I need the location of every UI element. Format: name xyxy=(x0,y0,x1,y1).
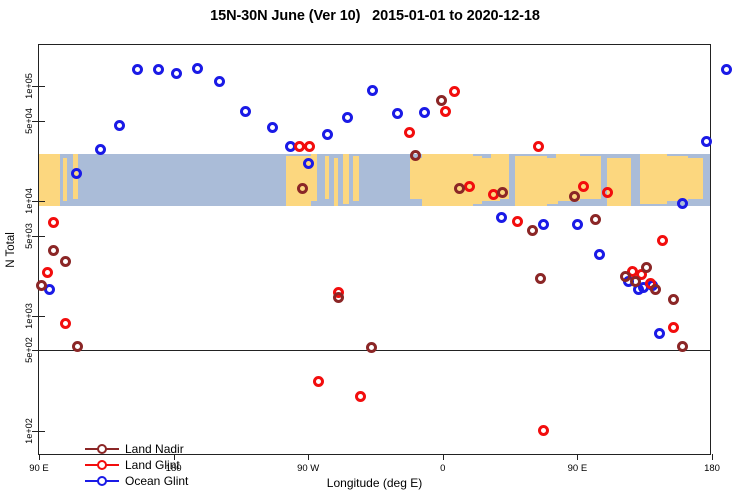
x-tick-mark xyxy=(712,454,713,460)
y-tick-label: 1e+04 xyxy=(24,188,34,214)
data-point-ocean xyxy=(496,212,507,223)
x-tick-mark xyxy=(308,454,309,460)
y-tick-mark-inner xyxy=(39,236,45,237)
data-point-nadir xyxy=(436,95,447,106)
data-point-ocean xyxy=(95,144,106,155)
data-point-ocean xyxy=(594,249,605,260)
legend-label: Land Nadir xyxy=(125,442,184,456)
x-tick-mark xyxy=(39,454,40,460)
data-point-glint xyxy=(512,216,523,227)
data-point-nadir xyxy=(48,245,59,256)
data-point-glint xyxy=(533,141,544,152)
y-tick-mark-inner xyxy=(39,350,45,351)
data-point-ocean xyxy=(153,64,164,75)
data-point-ocean xyxy=(114,120,125,131)
legend-item-glint[interactable]: Land Glint xyxy=(85,457,188,473)
data-point-nadir xyxy=(569,191,580,202)
data-point-ocean xyxy=(572,219,583,230)
legend-marker-glint xyxy=(85,459,119,472)
data-point-ocean xyxy=(367,85,378,96)
data-point-glint xyxy=(404,127,415,138)
legend-marker-nadir xyxy=(85,443,119,456)
data-point-glint xyxy=(440,106,451,117)
data-point-ocean xyxy=(392,108,403,119)
y-tick-mark-inner xyxy=(39,86,45,87)
x-tick-label: 0 xyxy=(440,463,445,474)
data-point-glint xyxy=(355,391,366,402)
data-point-nadir xyxy=(650,284,661,295)
data-point-glint xyxy=(538,425,549,436)
data-point-nadir xyxy=(60,256,71,267)
y-tick-mark-inner xyxy=(39,316,45,317)
data-point-ocean xyxy=(214,76,225,87)
data-point-glint xyxy=(449,86,460,97)
y-tick-label: 1e+02 xyxy=(24,418,34,444)
y-tick-mark-inner xyxy=(39,431,45,432)
data-point-ocean xyxy=(267,122,278,133)
data-point-nadir xyxy=(454,183,465,194)
y-axis-label-text: N Total xyxy=(5,232,17,268)
plot-page: 15N-30N June (Ver 10) 2015-01-01 to 2020… xyxy=(0,0,750,500)
page-title: 15N-30N June (Ver 10) 2015-01-01 to 2020… xyxy=(0,8,750,24)
data-point-nadir xyxy=(497,187,508,198)
plot-area: 1e+055e+041e+045e+031e+035e+021e+0290 E1… xyxy=(38,44,711,455)
y-tick-mark-inner xyxy=(39,121,45,122)
data-point-nadir xyxy=(641,262,652,273)
y-tick-label: 5e+04 xyxy=(24,108,34,134)
data-point-ocean xyxy=(721,64,732,75)
x-tick-mark xyxy=(577,454,578,460)
data-point-ocean xyxy=(132,64,143,75)
legend-label: Land Glint xyxy=(125,458,180,472)
data-point-glint xyxy=(464,181,475,192)
data-point-glint xyxy=(602,187,613,198)
data-point-glint xyxy=(60,318,71,329)
y-tick-label: 5e+02 xyxy=(24,337,34,363)
x-tick-label: 90 E xyxy=(29,463,49,474)
data-point-nadir xyxy=(620,271,631,282)
data-point-nadir xyxy=(410,150,421,161)
y-tick-mark-inner xyxy=(39,201,45,202)
data-point-nadir xyxy=(590,214,601,225)
data-point-ocean xyxy=(303,158,314,169)
data-point-nadir xyxy=(668,294,679,305)
x-tick-label: 90 W xyxy=(297,463,319,474)
data-point-ocean xyxy=(701,136,712,147)
data-point-ocean xyxy=(322,129,333,140)
data-point-ocean xyxy=(419,107,430,118)
data-point-nadir xyxy=(297,183,308,194)
y-tick-label: 1e+03 xyxy=(24,303,34,329)
legend-item-nadir[interactable]: Land Nadir xyxy=(85,441,188,457)
x-tick-label: 180 xyxy=(704,463,720,474)
data-point-ocean xyxy=(342,112,353,123)
data-point-glint xyxy=(313,376,324,387)
data-point-glint xyxy=(42,267,53,278)
data-point-ocean xyxy=(192,63,203,74)
data-point-glint xyxy=(668,322,679,333)
data-point-glint xyxy=(304,141,315,152)
data-point-nadir xyxy=(72,341,83,352)
y-tick-label: 5e+03 xyxy=(24,223,34,249)
x-tick-label: 90 E xyxy=(568,463,588,474)
data-point-ocean xyxy=(538,219,549,230)
data-point-glint xyxy=(48,217,59,228)
data-point-nadir xyxy=(677,341,688,352)
data-point-nadir xyxy=(527,225,538,236)
y-tick-label: 1e+05 xyxy=(24,74,34,100)
data-point-nadir xyxy=(630,276,641,287)
data-point-nadir xyxy=(535,273,546,284)
data-point-ocean xyxy=(71,168,82,179)
scatter-data-layer xyxy=(39,45,710,454)
data-point-glint xyxy=(294,141,305,152)
data-point-ocean xyxy=(677,198,688,209)
data-point-nadir xyxy=(333,292,344,303)
data-point-ocean xyxy=(240,106,251,117)
data-point-glint xyxy=(578,181,589,192)
y-axis-label: N Total xyxy=(4,44,18,455)
data-point-ocean xyxy=(654,328,665,339)
x-axis-label: Longitude (deg E) xyxy=(38,476,711,490)
data-point-glint xyxy=(657,235,668,246)
data-point-ocean xyxy=(171,68,182,79)
x-tick-mark xyxy=(443,454,444,460)
data-point-nadir xyxy=(366,342,377,353)
